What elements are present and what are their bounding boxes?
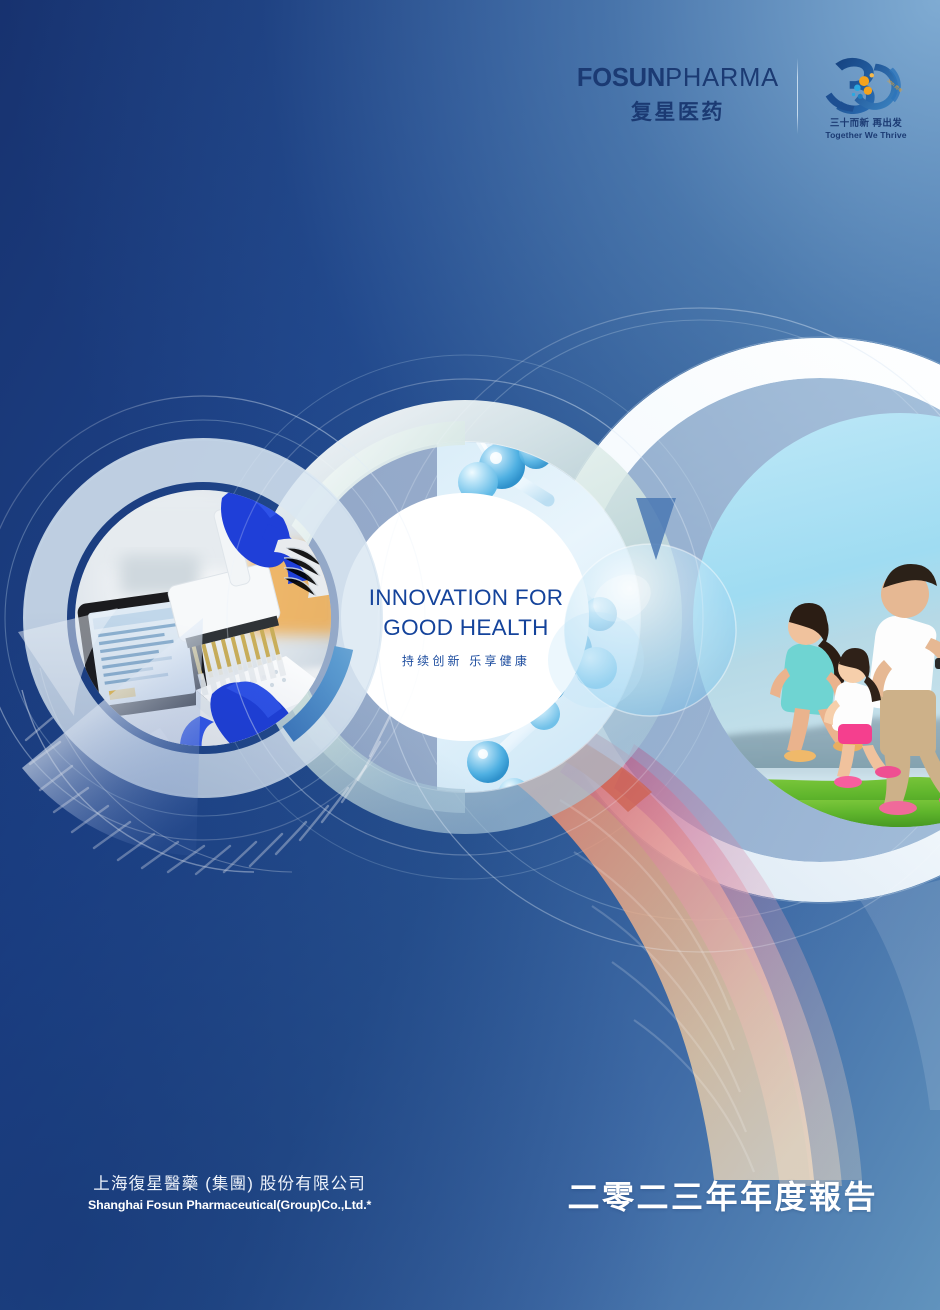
wordmark-pharma: PHARMA: [665, 64, 779, 92]
fosun-pharma-wordmark: FOSUNPHARMA: [577, 66, 779, 92]
anniversary-tagline-en: Together We Thrive: [818, 130, 914, 140]
company-name-english: Shanghai Fosun Pharmaceutical(Group)Co.,…: [88, 1198, 371, 1212]
company-name-block: 上海復星醫藥 (集團) 股份有限公司 Shanghai Fosun Pharma…: [88, 1174, 371, 1212]
company-name-chinese: 上海復星醫藥 (集團) 股份有限公司: [88, 1174, 371, 1195]
wordmark-chinese: 复星医药: [577, 96, 779, 126]
slogan-line-1: INNOVATION FOR: [366, 583, 566, 613]
annual-report-cover: FOSUNPHARMA 复星医药: [0, 0, 940, 1310]
report-title: 二零二三年年度報告: [567, 1172, 878, 1218]
anniversary-tagline-cn: 三十而新 再出发: [818, 115, 914, 129]
slogan-block: INNOVATION FOR GOOD HEALTH 持续创新 乐享健康: [366, 583, 566, 669]
slogan-line-2: GOOD HEALTH: [366, 613, 566, 643]
slogan-line-chinese: 持续创新 乐享健康: [366, 652, 566, 669]
wordmark-fosun: FOSUN: [577, 64, 665, 92]
fosun-pharma-logo: FOSUNPHARMA 复星医药: [577, 66, 797, 127]
report-title-block: 二零二三年年度報告: [567, 1172, 878, 1218]
logo-divider: [797, 58, 798, 134]
anniversary-mark: 30th 周年: [818, 52, 914, 114]
anniversary-logo: 30th 周年 三十而新 再出发 Together We Thrive: [818, 52, 914, 140]
header-logo-area: FOSUNPHARMA 复星医药: [577, 52, 914, 140]
